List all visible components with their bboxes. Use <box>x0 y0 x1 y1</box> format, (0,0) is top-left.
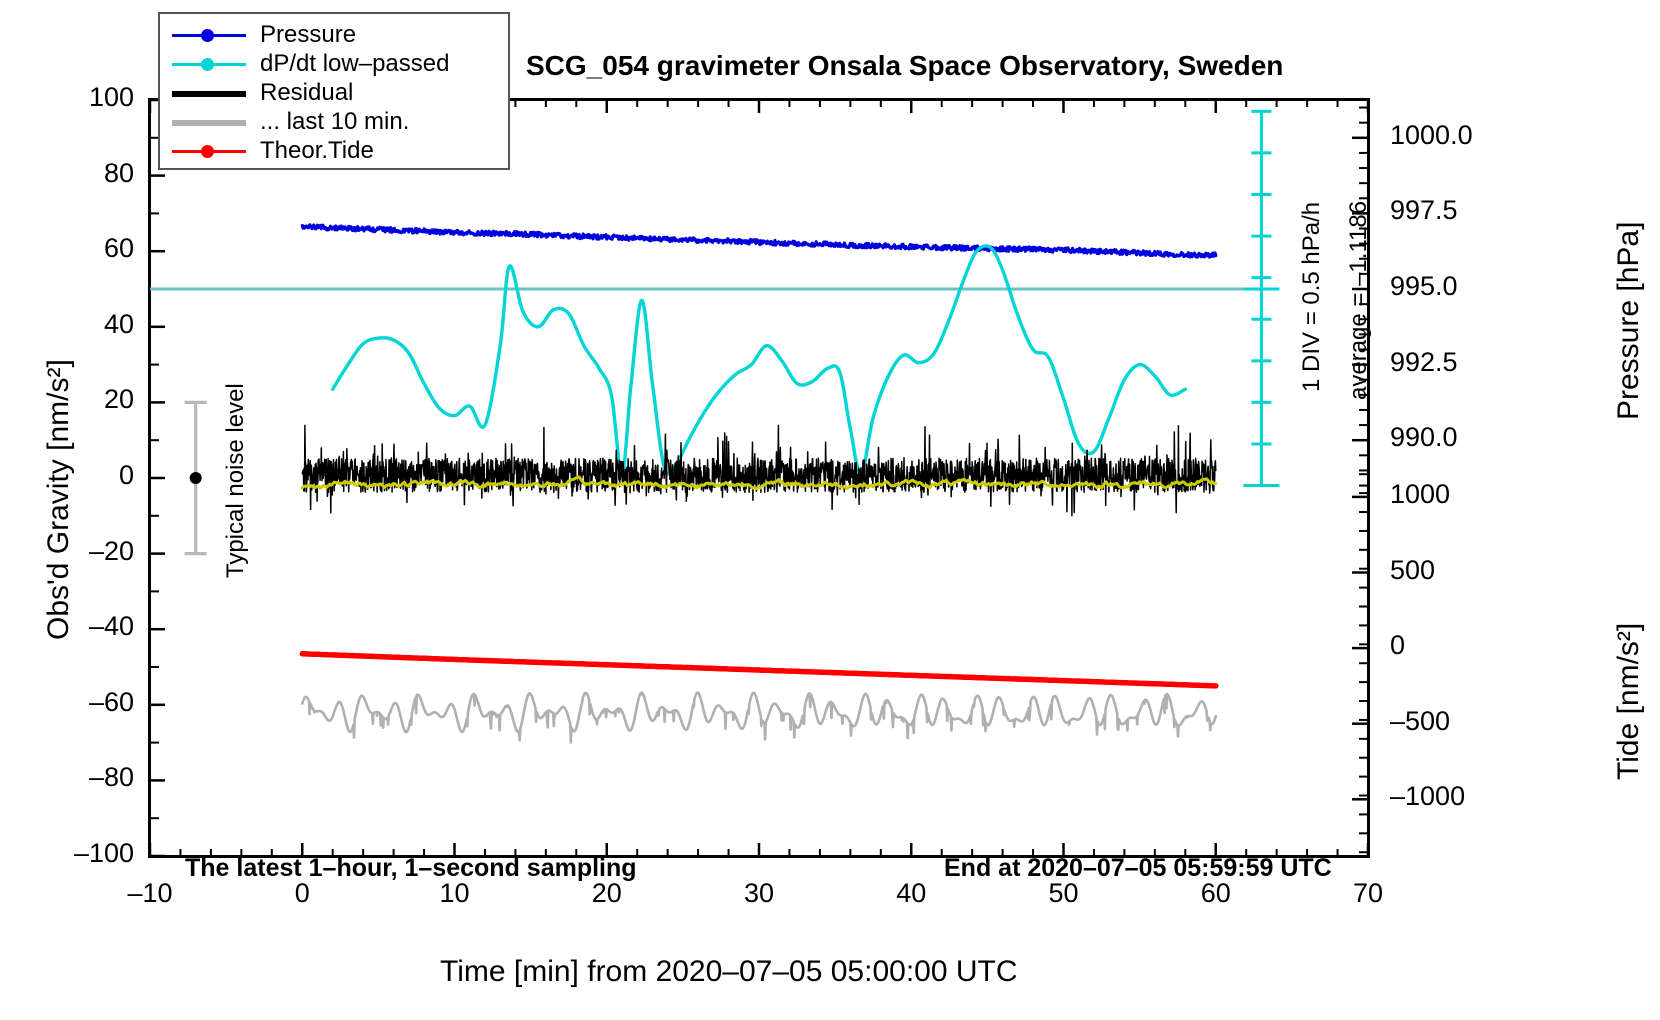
sampling-note: The latest 1–hour, 1–second sampling <box>185 854 637 883</box>
x-tick-label: –10 <box>127 878 172 909</box>
pressure-tick-label: 992.5 <box>1390 347 1458 378</box>
last10min-series <box>302 693 1216 743</box>
x-tick-label: 20 <box>592 878 622 909</box>
y-tick-label: 100 <box>89 82 134 113</box>
x-tick-label: 70 <box>1353 878 1383 909</box>
legend-label: Pressure <box>260 21 356 49</box>
legend-label: Theor.Tide <box>260 137 374 165</box>
x-tick-label: 10 <box>439 878 469 909</box>
gravimeter-monitor-plot: SCG_054 gravimeter Onsala Space Observat… <box>0 0 1660 1020</box>
legend-item[interactable]: Theor.Tide <box>160 136 508 165</box>
tide-tick-label: –500 <box>1390 706 1450 737</box>
legend-key-tide <box>170 141 248 161</box>
noise-level-marker <box>190 472 202 484</box>
end-time-note: End at 2020–07–05 05:59:59 UTC <box>944 854 1332 883</box>
y-tick-label: –80 <box>89 762 134 793</box>
legend-item[interactable]: ... last 10 min. <box>160 107 508 136</box>
pressure-tick-label: 1000.0 <box>1390 120 1473 151</box>
y-tick-label: 40 <box>104 309 134 340</box>
tide-axis-title: Tide [nm/s²] <box>1612 623 1646 780</box>
legend-key-last10 <box>170 112 248 132</box>
x-tick-label: 30 <box>744 878 774 909</box>
dpdt-scale-annotation: 1 DIV = 0.5 hPa/h <box>1298 202 1326 392</box>
pressure-axis-title: Pressure [hPa] <box>1612 222 1646 420</box>
noise-level-annotation: Typical noise level <box>222 383 250 578</box>
y-tick-label: –100 <box>74 838 134 869</box>
legend-label: ... last 10 min. <box>260 108 409 136</box>
legend-label: Residual <box>260 79 353 107</box>
legend-key-dpdt <box>170 54 248 74</box>
legend-key-pressure <box>170 25 248 45</box>
tide-tick-label: 1000 <box>1390 479 1450 510</box>
y-tick-label: –60 <box>89 687 134 718</box>
legend-item[interactable]: dP/dt low–passed <box>160 49 508 78</box>
pressure-series <box>302 225 1216 257</box>
legend-item[interactable]: Residual <box>160 78 508 107</box>
y-axis-title: Obs'd Gravity [nm/s²] <box>42 359 76 640</box>
x-tick-label: 50 <box>1048 878 1078 909</box>
y-tick-label: 20 <box>104 384 134 415</box>
y-tick-label: –20 <box>89 536 134 567</box>
legend: Pressure dP/dt low–passed Residual ... l… <box>158 12 510 170</box>
dpdt-series <box>333 246 1186 474</box>
legend-item[interactable]: Pressure <box>160 20 508 49</box>
y-tick-label: –40 <box>89 611 134 642</box>
tide-tick-label: 500 <box>1390 555 1435 586</box>
dpdt-average-annotation: average = –1.1186 <box>1345 201 1373 400</box>
residual-series <box>302 425 1216 515</box>
legend-key-residual <box>170 83 248 103</box>
x-axis-title: Time [min] from 2020–07–05 05:00:00 UTC <box>440 955 1018 989</box>
x-tick-label: 40 <box>896 878 926 909</box>
y-tick-label: 60 <box>104 233 134 264</box>
x-tick-label: 60 <box>1201 878 1231 909</box>
pressure-tick-label: 995.0 <box>1390 271 1458 302</box>
theoretical-tide-series <box>302 654 1216 686</box>
pressure-tick-label: 990.0 <box>1390 422 1458 453</box>
x-tick-label: 0 <box>295 878 310 909</box>
tide-tick-label: 0 <box>1390 630 1405 661</box>
legend-label: dP/dt low–passed <box>260 50 449 78</box>
tide-tick-label: –1000 <box>1390 781 1465 812</box>
y-tick-label: 0 <box>119 460 134 491</box>
pressure-tick-label: 997.5 <box>1390 195 1458 226</box>
y-tick-label: 80 <box>104 158 134 189</box>
